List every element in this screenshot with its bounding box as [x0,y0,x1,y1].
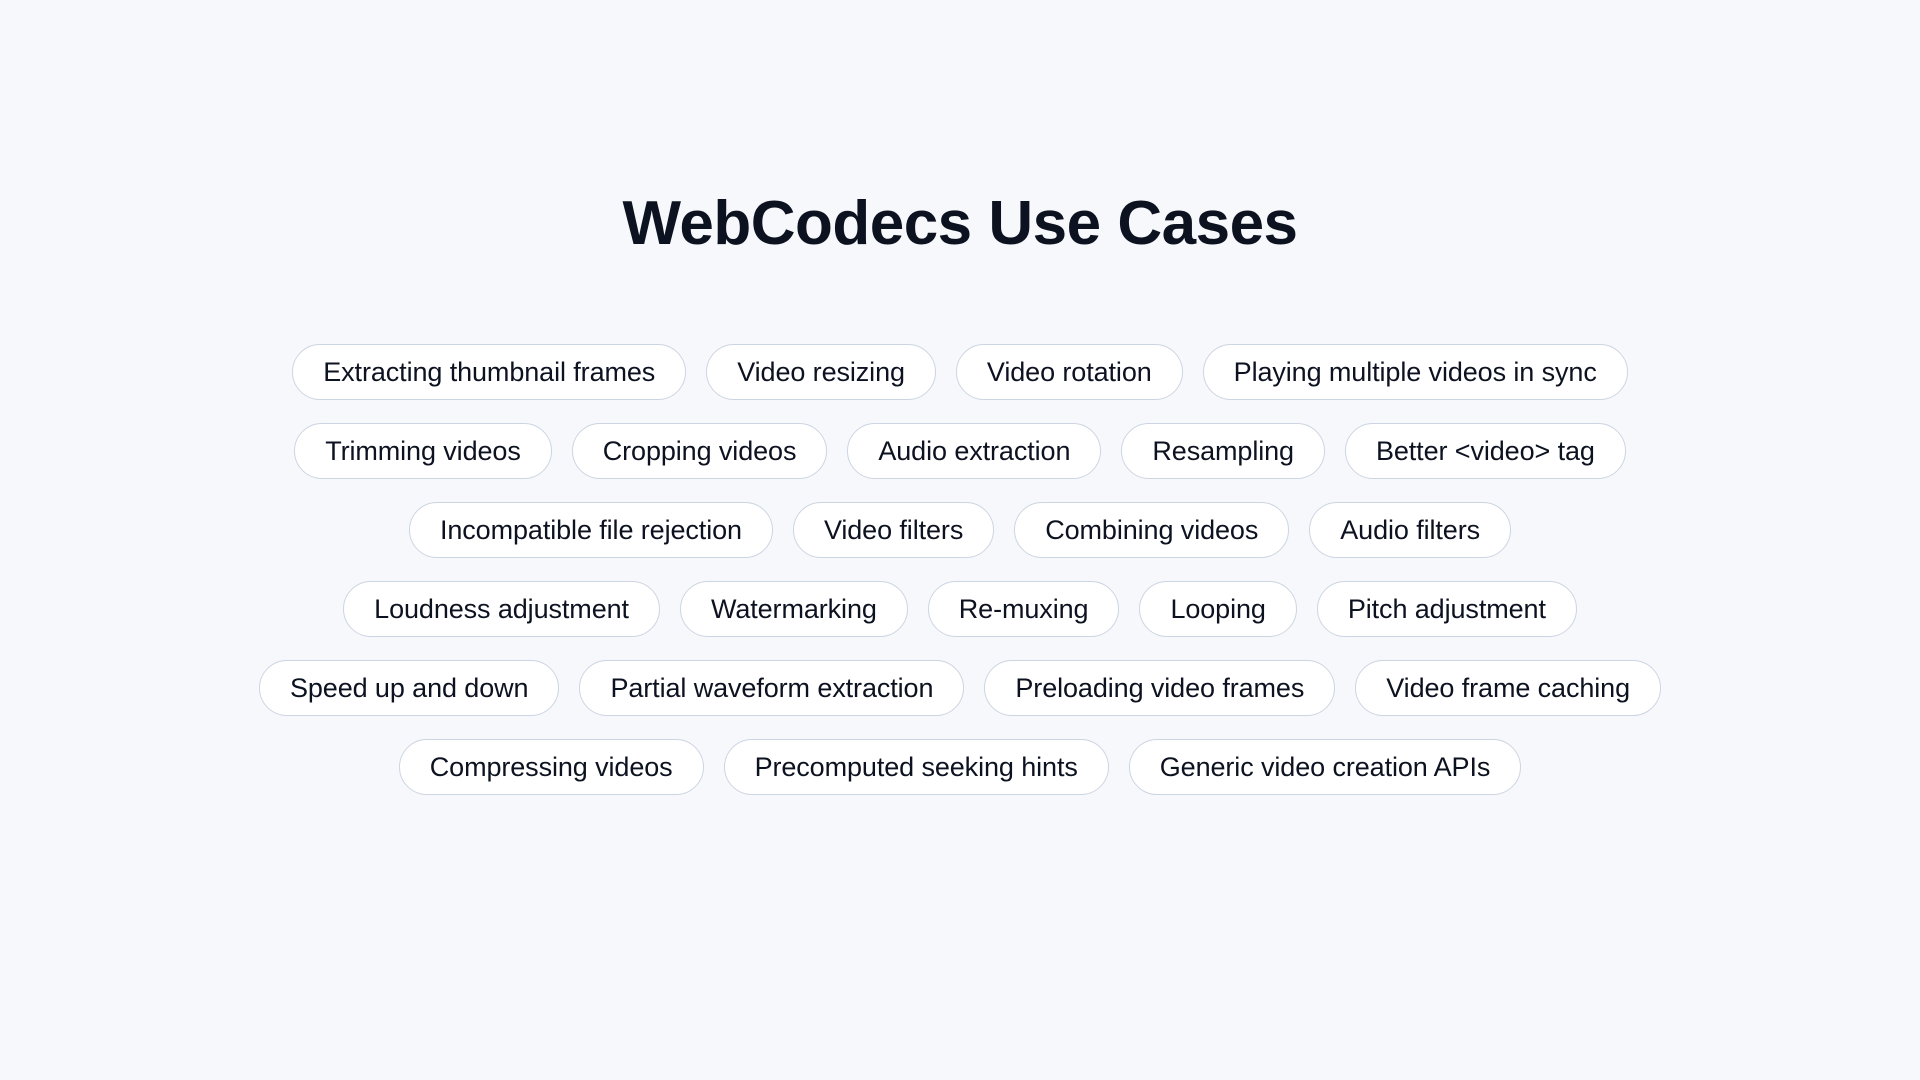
use-case-pill[interactable]: Generic video creation APIs [1129,739,1521,795]
use-case-pill[interactable]: Video frame caching [1355,660,1661,716]
use-case-pill-cloud: Extracting thumbnail frames Video resizi… [140,344,1780,795]
use-case-pill[interactable]: Looping [1139,581,1296,637]
use-case-pill[interactable]: Compressing videos [399,739,704,795]
use-case-pill[interactable]: Re-muxing [928,581,1120,637]
use-case-pill[interactable]: Audio extraction [847,423,1101,479]
pill-row: Speed up and down Partial waveform extra… [140,660,1780,716]
use-case-pill[interactable]: Speed up and down [259,660,560,716]
pill-row: Extracting thumbnail frames Video resizi… [140,344,1780,400]
use-case-pill[interactable]: Audio filters [1309,502,1511,558]
page-root: WebCodecs Use Cases Extracting thumbnail… [0,0,1920,1080]
use-case-pill[interactable]: Watermarking [680,581,908,637]
use-case-pill[interactable]: Trimming videos [294,423,552,479]
use-case-pill[interactable]: Pitch adjustment [1317,581,1577,637]
use-case-pill[interactable]: Resampling [1121,423,1325,479]
use-case-pill[interactable]: Loudness adjustment [343,581,660,637]
use-case-pill[interactable]: Better <video> tag [1345,423,1626,479]
use-case-pill[interactable]: Cropping videos [572,423,828,479]
use-case-pill[interactable]: Extracting thumbnail frames [292,344,686,400]
pill-row: Compressing videos Precomputed seeking h… [140,739,1780,795]
pill-row: Trimming videos Cropping videos Audio ex… [140,423,1780,479]
use-case-pill[interactable]: Video resizing [706,344,936,400]
use-case-pill[interactable]: Combining videos [1014,502,1289,558]
use-case-pill[interactable]: Preloading video frames [984,660,1335,716]
use-case-pill[interactable]: Incompatible file rejection [409,502,773,558]
use-case-pill[interactable]: Playing multiple videos in sync [1203,344,1628,400]
pill-row: Incompatible file rejection Video filter… [140,502,1780,558]
use-case-pill[interactable]: Partial waveform extraction [579,660,964,716]
pill-row: Loudness adjustment Watermarking Re-muxi… [140,581,1780,637]
use-case-pill[interactable]: Precomputed seeking hints [724,739,1109,795]
use-case-pill[interactable]: Video rotation [956,344,1183,400]
use-case-pill[interactable]: Video filters [793,502,994,558]
page-title: WebCodecs Use Cases [622,0,1297,258]
